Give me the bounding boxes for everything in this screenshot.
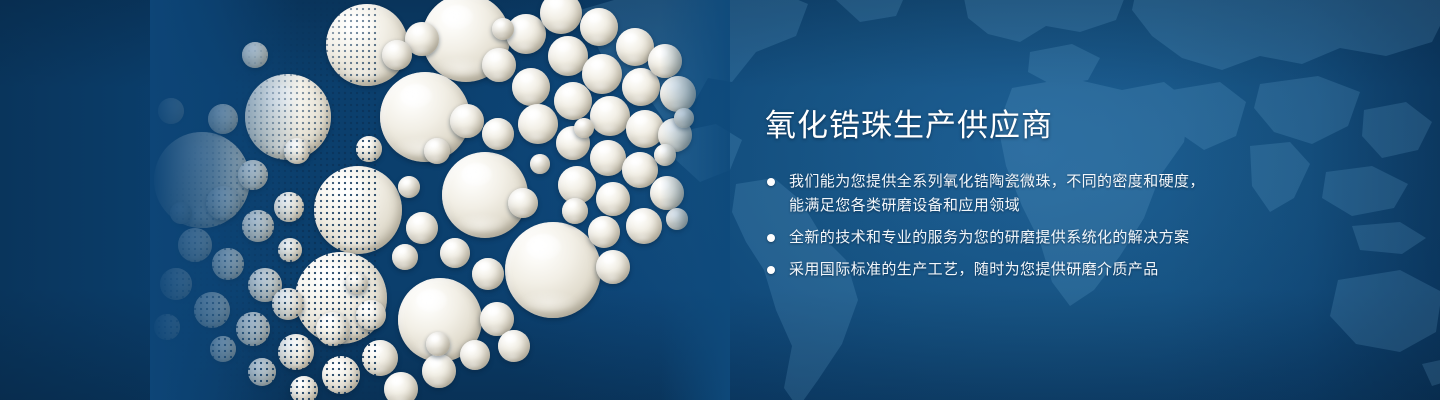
bead [530, 154, 550, 174]
bead [236, 312, 270, 346]
bead [650, 176, 684, 210]
bead [290, 376, 318, 400]
bead [472, 258, 504, 290]
bead [492, 18, 514, 40]
bead [210, 336, 236, 362]
bead [482, 118, 514, 150]
bead [242, 210, 274, 242]
bead [206, 186, 240, 220]
bead [666, 208, 688, 230]
bullet-text-line-1: 采用国际标准的生产工艺，随时为您提供研磨介质产品 [789, 258, 1285, 282]
bullet-text-line-2: 能满足您各类研磨设备和应用领域 [789, 194, 1285, 218]
banner-content: 氧化锆珠生产供应商 我们能为您提供全系列氧化锆陶瓷微珠，不同的密度和硬度， 能满… [765, 106, 1285, 282]
bead [518, 104, 558, 144]
bead [596, 182, 630, 216]
bead [460, 340, 490, 370]
bullet-item-1: 我们能为您提供全系列氧化锆陶瓷微珠，不同的密度和硬度， 能满足您各类研磨设备和应… [765, 170, 1285, 218]
bead [648, 44, 682, 78]
bead [482, 48, 516, 82]
zirconia-beads-photo [150, 0, 730, 400]
beads-cluster [150, 0, 730, 400]
bead [194, 292, 230, 328]
bead [590, 96, 630, 136]
bead [626, 208, 662, 244]
bead [562, 198, 588, 224]
bullet-text-line-1: 全新的技术和专业的服务为您的研磨提供系统化的解决方案 [789, 226, 1285, 250]
bead [274, 192, 304, 222]
hero-banner: 氧化锆珠生产供应商 我们能为您提供全系列氧化锆陶瓷微珠，不同的密度和硬度， 能满… [0, 0, 1440, 400]
bead [588, 216, 620, 248]
bead [384, 372, 418, 400]
bead [398, 176, 420, 198]
bead [178, 228, 212, 262]
bead [554, 82, 592, 120]
bead [316, 312, 350, 346]
bead [346, 272, 368, 294]
banner-headline: 氧化锆珠生产供应商 [765, 106, 1285, 146]
bullet-dot-icon [767, 234, 775, 242]
bead [160, 268, 192, 300]
bead [382, 40, 412, 70]
bead [278, 238, 302, 262]
bead [450, 104, 484, 138]
bead [208, 104, 238, 134]
bead [242, 42, 268, 68]
bead [596, 250, 630, 284]
bead [590, 140, 626, 176]
bead [278, 334, 314, 370]
bead [505, 222, 601, 318]
bead [154, 314, 180, 340]
bead [508, 188, 538, 218]
bead [406, 212, 438, 244]
bead [654, 144, 676, 166]
banner-bullet-list: 我们能为您提供全系列氧化锆陶瓷微珠，不同的密度和硬度， 能满足您各类研磨设备和应… [765, 170, 1285, 282]
bead [356, 300, 386, 330]
bead [362, 340, 398, 376]
bullet-item-2: 全新的技术和专业的服务为您的研磨提供系统化的解决方案 [765, 226, 1285, 250]
bead [440, 238, 470, 268]
bead [322, 356, 360, 394]
bead [422, 354, 456, 388]
bullet-item-3: 采用国际标准的生产工艺，随时为您提供研磨介质产品 [765, 258, 1285, 282]
bead [212, 248, 244, 280]
bullet-dot-icon [767, 178, 775, 186]
bead [392, 244, 418, 270]
bullet-dot-icon [767, 266, 775, 274]
bead [512, 68, 550, 106]
bead [314, 166, 402, 254]
bead [424, 138, 450, 164]
bullet-text-line-1: 我们能为您提供全系列氧化锆陶瓷微珠，不同的密度和硬度， [789, 170, 1285, 194]
bead [248, 358, 276, 386]
bead [238, 160, 268, 190]
bead [540, 0, 582, 34]
bead [284, 138, 310, 164]
bead [574, 118, 594, 138]
bead [582, 54, 622, 94]
bead [158, 98, 184, 124]
bead [580, 8, 618, 46]
bead [272, 288, 304, 320]
bead [170, 202, 192, 224]
bead [660, 76, 696, 112]
bead [356, 136, 382, 162]
bead [426, 332, 450, 356]
bead [498, 330, 530, 362]
bead [674, 108, 694, 128]
